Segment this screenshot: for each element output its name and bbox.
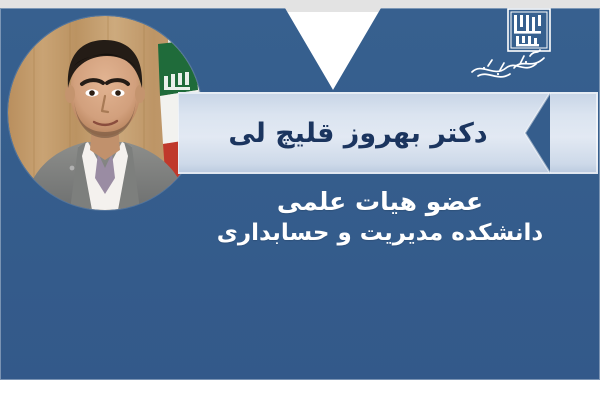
role-line: عضو هیات علمی: [180, 186, 580, 217]
poster-card: دکتر بهروز قلیچ لی عضو هیات علمی دانشکده…: [0, 0, 600, 400]
subtitle-block: عضو هیات علمی دانشکده مدیریت و حسابداری: [180, 186, 580, 249]
university-logo: [464, 6, 560, 92]
avatar: [8, 16, 202, 210]
portrait-photo-illustration: [8, 16, 202, 210]
shahid-beheshti-logo-icon: [464, 6, 560, 92]
affiliation-line: دانشکده مدیریت و حسابداری: [180, 219, 580, 249]
person-name: دکتر بهروز قلیچ لی: [178, 92, 538, 174]
